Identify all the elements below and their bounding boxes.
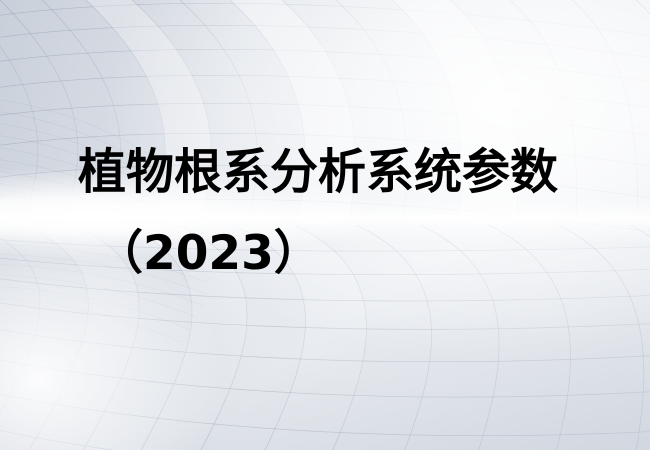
title-slide: 植物根系分析系统参数 （2023） xyxy=(0,0,650,450)
horizon-light-sweep xyxy=(0,0,650,450)
background-mesh-pattern xyxy=(0,0,650,450)
page-title: 植物根系分析系统参数 xyxy=(78,148,558,196)
page-title-year: （2023） xyxy=(96,230,321,277)
lower-left-light-wash xyxy=(0,0,650,450)
bottom-shading xyxy=(0,0,650,450)
left-edge-shading xyxy=(0,0,650,450)
upper-right-light-wash xyxy=(0,0,650,450)
horizon-light-flare xyxy=(0,0,650,450)
